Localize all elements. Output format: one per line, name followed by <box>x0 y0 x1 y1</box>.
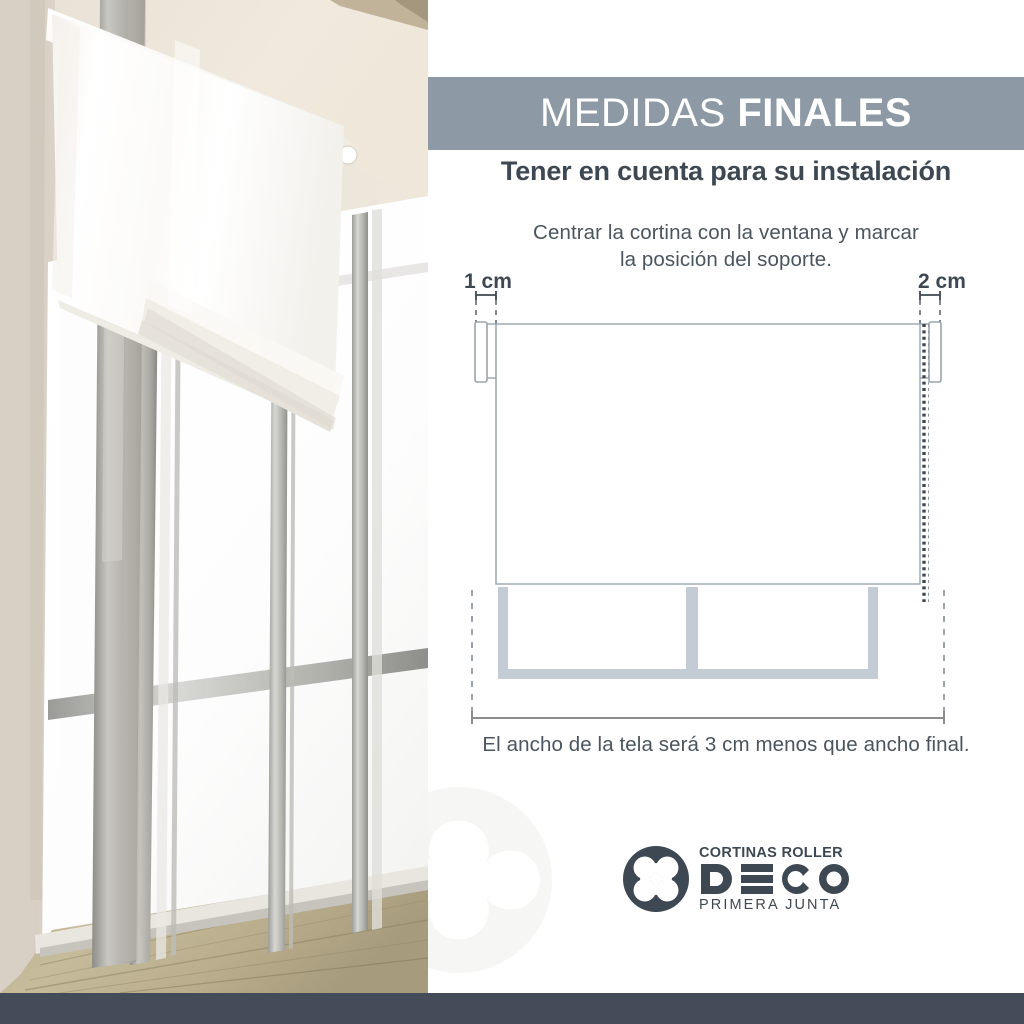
deco-flower-icon <box>623 846 689 912</box>
content-panel: MEDIDAS FINALES Tener en cuenta para su … <box>428 0 1024 993</box>
left-bracket <box>475 322 496 382</box>
window-frame <box>498 587 878 679</box>
blind-fabric <box>496 324 920 584</box>
brand-logo: CORTINAS ROLLER <box>623 843 833 915</box>
logo-top-text: CORTINAS ROLLER <box>699 846 854 861</box>
right-gap-dimension <box>920 291 940 300</box>
diagram-svg <box>428 290 1024 740</box>
photo-illustration <box>0 0 428 993</box>
logo-mark-svg <box>623 846 689 912</box>
width-dimension-line <box>472 711 944 724</box>
infographic-page: MEDIDAS FINALES Tener en cuenta para su … <box>0 0 1024 1024</box>
logo-bottom-text: PRIMERA JUNTA <box>699 898 854 913</box>
installation-diagram <box>428 290 1024 740</box>
left-gap-dimension <box>476 291 496 300</box>
logo-wordmark: CORTINAS ROLLER <box>699 846 854 912</box>
left-gap-guides <box>476 300 496 324</box>
title-word-thin: MEDIDAS <box>540 91 726 135</box>
right-gap-guides <box>920 300 940 324</box>
logo-brand-svg <box>699 862 854 896</box>
title-word-bold: FINALES <box>737 91 912 135</box>
footnote-text: El ancho de la tela será 3 cm menos que … <box>428 733 1024 757</box>
header-band: MEDIDAS FINALES <box>428 77 1024 150</box>
page-title: MEDIDAS FINALES <box>540 91 912 136</box>
instruction-line-1: Centrar la cortina con la ventana y marc… <box>428 219 1024 246</box>
interior-photo <box>0 0 428 993</box>
instruction-text: Centrar la cortina con la ventana y marc… <box>428 219 1024 273</box>
watermark-icon <box>428 787 552 973</box>
logo-brand <box>699 862 854 896</box>
page-subtitle: Tener en cuenta para su instalación <box>428 156 1024 187</box>
watermark-logo <box>428 787 552 973</box>
side-chain <box>924 324 929 602</box>
bottom-bar <box>0 993 1024 1024</box>
